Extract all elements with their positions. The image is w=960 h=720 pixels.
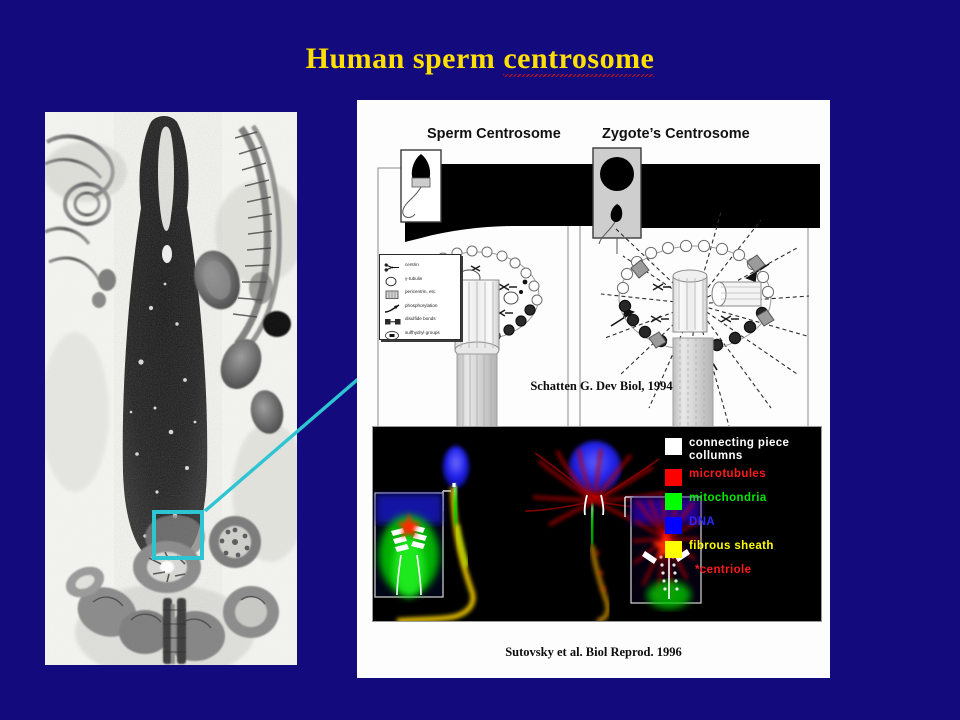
legend-item-gamma-tubulin: γ-tubulin (384, 273, 457, 286)
legend-item-phosphorylation: phosphorylation (384, 300, 457, 313)
legend-label: connecting piece collumns (689, 437, 789, 462)
legend-label: centrin (405, 263, 419, 268)
figure-panel: Sperm Centrosome Zygote’s Centrosome (357, 100, 830, 678)
legend-label: phosphorylation (405, 304, 437, 309)
legend-item-disulfide-bonds: disulfide bonds (384, 313, 457, 326)
disulfide-bond-icon (384, 314, 402, 325)
phosphorylation-arrow-icon (384, 301, 402, 312)
legend-item-dna: DNA (665, 516, 813, 534)
legend-label: fibrous sheath (689, 540, 774, 553)
legend-item-connecting-piece: connecting piece collumns (665, 437, 813, 462)
schematic-legend: centrin γ-tubulin (379, 254, 461, 340)
electron-micrograph-panel (45, 112, 297, 665)
swatch-red (665, 469, 682, 486)
legend-label: disulfide bonds (405, 317, 436, 322)
legend-item-fibrous-sheath: fibrous sheath (665, 540, 813, 558)
fluorescence-micrograph-panel: connecting piece collumns microtubules m… (372, 426, 822, 622)
legend-item-centriole: *centriole (665, 564, 813, 577)
centrin-icon (384, 260, 402, 271)
page-title-plain: Human sperm (306, 42, 504, 75)
swatch-white (665, 438, 682, 455)
page-title: Human sperm centrosome (0, 42, 960, 76)
fluorescence-color-legend: connecting piece collumns microtubules m… (665, 437, 813, 583)
legend-label: mitochondria (689, 492, 767, 505)
electron-micrograph-image (45, 112, 297, 665)
legend-item-centrin: centrin (384, 259, 457, 272)
legend-item-pericentrin: pericentrin, etc. (384, 286, 457, 299)
centrosome-schematic: Sperm Centrosome Zygote’s Centrosome (365, 108, 822, 458)
legend-label: DNA (689, 516, 715, 529)
swatch-yellow (665, 541, 682, 558)
sulfhydryl-group-icon (384, 328, 402, 339)
swatch-blue (665, 517, 682, 534)
gamma-tubulin-icon (384, 274, 402, 285)
legend-item-sulfhydryl-groups: sulfhydryl groups (384, 327, 457, 340)
legend-item-mitochondria: mitochondria (665, 492, 813, 510)
legend-item-microtubules: microtubules (665, 468, 813, 486)
legend-label: *centriole (695, 564, 751, 577)
slide-canvas: Human sperm centrosome (0, 0, 960, 720)
legend-label: γ-tubulin (405, 277, 422, 282)
schematic-citation: Schatten G. Dev Biol, 1994 (365, 379, 838, 394)
legend-label: pericentrin, etc. (405, 290, 436, 295)
pericentrin-icon (384, 287, 402, 298)
swatch-green (665, 493, 682, 510)
fluorescence-citation: Sutovsky et al. Biol Reprod. 1996 (357, 645, 830, 660)
legend-label: sulfhydryl groups (405, 331, 440, 336)
legend-label: microtubules (689, 468, 766, 481)
page-title-misspelled-word: centrosome (503, 42, 654, 76)
centriole-callout-box (152, 510, 204, 560)
